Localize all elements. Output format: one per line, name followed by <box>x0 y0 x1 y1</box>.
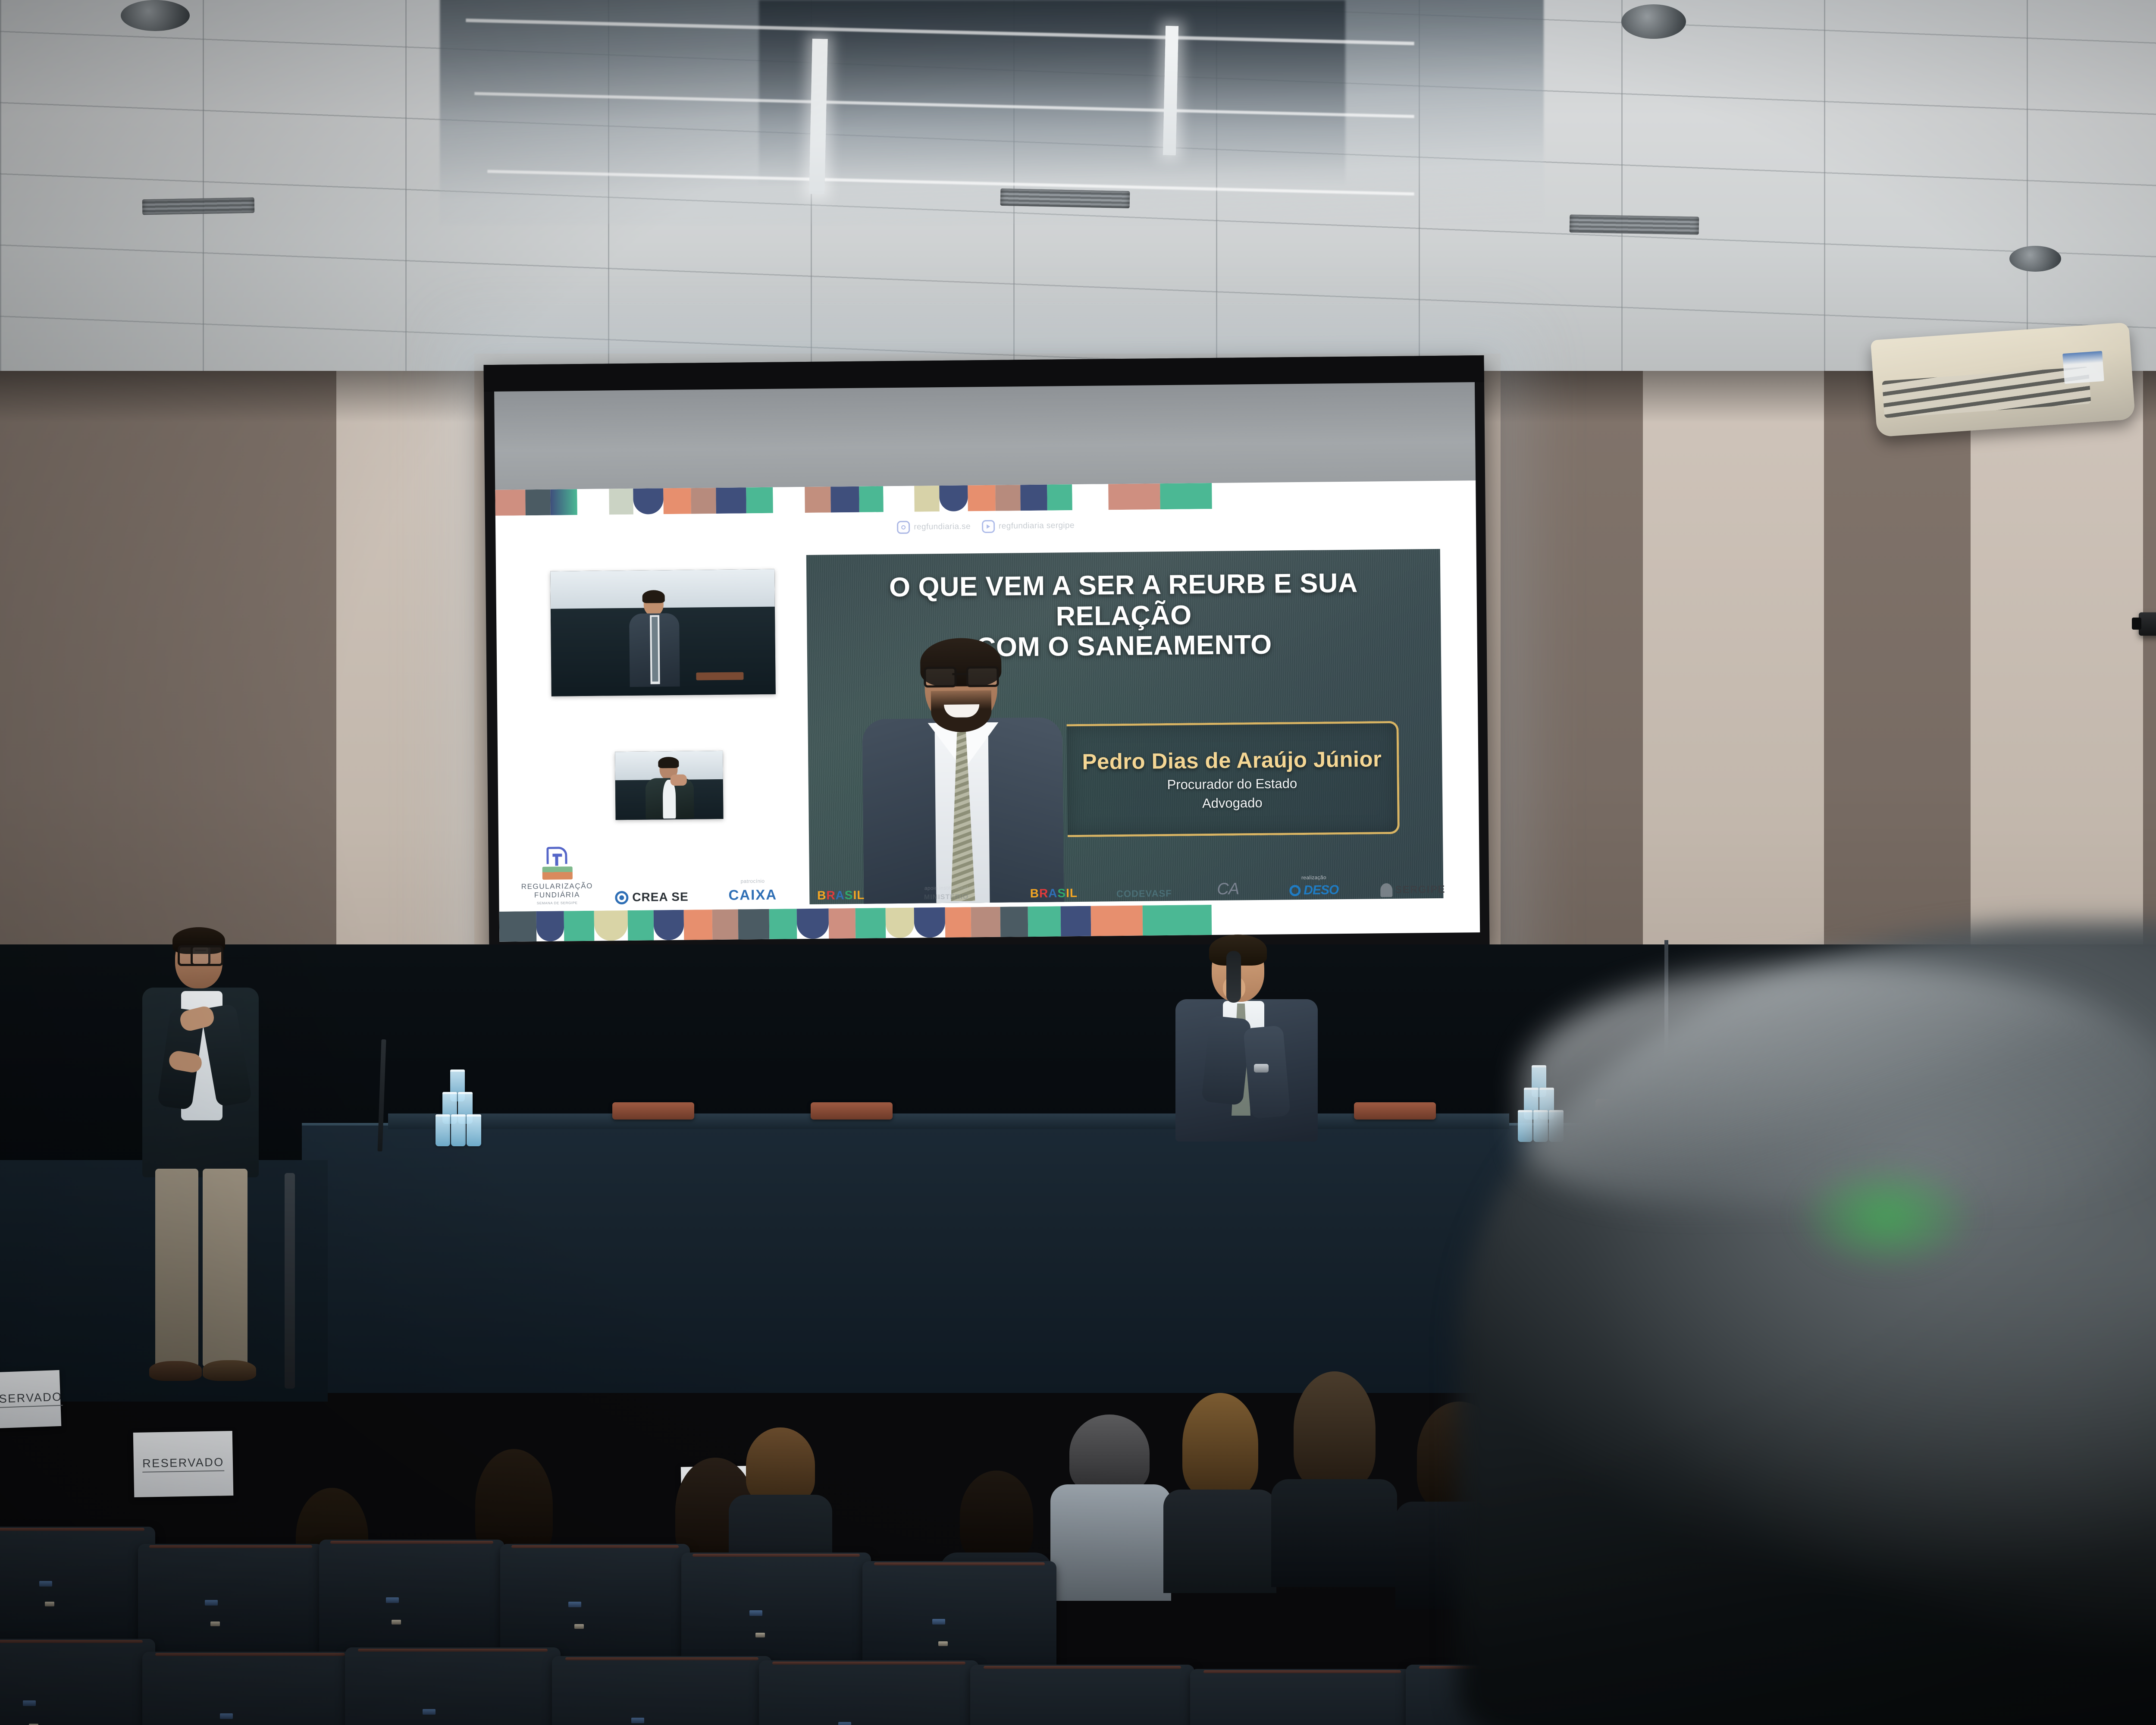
sponsor-name-crea: CREA SE <box>632 890 689 904</box>
stage-chair-back <box>612 1102 694 1120</box>
video-thumbnail-interpreter <box>615 751 724 820</box>
sponsor-name-codevasf: CODEVASF <box>1116 888 1172 900</box>
social-handle-instagram: regfundiaria.se <box>897 520 971 534</box>
auditorium-seat[interactable] <box>345 1647 561 1725</box>
crea-logo-icon <box>615 891 628 904</box>
event-logo-line2: FUNDIÁRIA <box>534 891 580 900</box>
sponsor-tag: patrocínio <box>741 878 765 884</box>
wall-camera-icon <box>2139 612 2156 636</box>
speaker-wristwatch <box>1254 1064 1269 1073</box>
ceiling-light <box>809 39 828 194</box>
speaker-name: Pedro Dias de Araújo Júnior <box>1082 746 1382 775</box>
instagram-handle-label: regfundiaria.se <box>914 522 971 532</box>
sponsor-name-ministerio: MINISTÉRIO <box>924 893 969 901</box>
instagram-icon <box>897 521 910 534</box>
stage-speaker <box>1138 925 1380 1141</box>
video-thumbnail-speaker <box>550 569 776 696</box>
reserved-sign: RESERVADO <box>0 1370 61 1429</box>
presentation-slide: regfundiaria.se regfundiaria sergipe <box>495 480 1480 942</box>
attendee <box>1263 1371 1406 1587</box>
ceiling-vent <box>1570 214 1699 235</box>
ceiling-speaker-dome <box>121 0 190 31</box>
sponsor-tag: realização <box>1301 874 1326 881</box>
youtube-icon <box>982 520 995 533</box>
sponsor-deso: realização DESO <box>1264 874 1363 898</box>
sponsor-bar: REGULARIZAÇÃO FUNDIÁRIA SEMANA DE SERGIP… <box>498 836 1479 910</box>
reserved-sign: RESERVADO <box>133 1431 234 1497</box>
auditorium-seat[interactable] <box>552 1656 772 1725</box>
auditorium-photo: SAÍDA EMERGÊNCIA <box>0 0 2156 1725</box>
auditorium-seat[interactable] <box>759 1660 979 1725</box>
sponsor-brasil-1: BRASIL <box>800 885 882 903</box>
event-logo-line1: REGULARIZAÇÃO <box>521 882 593 891</box>
ceiling-light <box>1163 26 1178 156</box>
speaker-role-2: Advogado <box>1202 795 1263 811</box>
reserved-sign-label: RESERVADO <box>0 1390 63 1409</box>
auditorium-seat[interactable] <box>142 1652 358 1725</box>
sponsor-sergipe: SERGIPE <box>1363 880 1463 897</box>
sponsor-name-deso: DESO <box>1304 883 1338 898</box>
microphone <box>1226 951 1241 1003</box>
foreground-camera-highlight <box>1522 962 2156 1203</box>
portrait-glasses-icon <box>924 666 999 685</box>
slide-title-line1: O QUE VEM A SER A REURB E SUA RELAÇÃO <box>821 567 1426 634</box>
stage-chair-back <box>811 1102 893 1120</box>
event-logo-line3: SEMANA DE SERGIPE <box>537 901 578 905</box>
sponsor-brasil-2: BRASIL <box>1011 884 1097 901</box>
sponsor-name-sergipe: SERGIPE <box>1395 884 1445 896</box>
ceiling-vent <box>142 198 255 215</box>
reserved-sign-label: RESERVADO <box>142 1455 224 1472</box>
sponsor-name-caixa: CAIXA <box>728 887 777 903</box>
auditorium-seat[interactable] <box>970 1665 1194 1725</box>
ceiling-vent <box>1000 188 1130 208</box>
screen-blank-area <box>494 382 1476 491</box>
deso-logo-icon <box>1289 885 1300 896</box>
ac-louvers <box>1882 367 2091 418</box>
event-logo: REGULARIZAÇÃO FUNDIÁRIA SEMANA DE SERGIP… <box>516 847 598 906</box>
auditorium-seat[interactable] <box>0 1639 155 1725</box>
sponsor-caixa: patrocínio CAIXA <box>705 878 800 903</box>
youtube-handle-label: regfundiaria sergipe <box>999 521 1075 531</box>
auditorium-seat[interactable] <box>1190 1669 1414 1725</box>
social-handle-youtube: regfundiaria sergipe <box>982 519 1075 533</box>
ceiling-speaker-dome <box>1621 4 1686 39</box>
auditorium-seat[interactable] <box>0 1527 155 1656</box>
speaker-nameplate: Pedro Dias de Araújo Júnior Procurador d… <box>1067 721 1400 837</box>
projection-screen: regfundiaria.se regfundiaria sergipe <box>483 355 1489 956</box>
sponsor-ministerio: apoio institucional MINISTÉRIO <box>882 884 1011 902</box>
sponsor-tag: apoio institucional <box>924 884 968 891</box>
ceiling-smoke-detector <box>2009 246 2061 272</box>
speaker-role-1: Procurador do Estado <box>1167 776 1297 793</box>
sponsor-name-ca: CA <box>1217 880 1239 898</box>
air-conditioner-unit <box>1871 322 2135 437</box>
event-logo-mark-icon <box>539 847 574 880</box>
sergipe-logo-icon <box>1380 883 1392 897</box>
sponsor-crea: CREA SE <box>598 887 706 904</box>
ac-brand-badge <box>2062 351 2104 384</box>
foreground-camera-green-led <box>1794 1160 1979 1272</box>
sponsor-codevasf: CODEVASF <box>1097 885 1191 900</box>
sponsor-ca: CA <box>1191 877 1265 899</box>
interpreter-glasses-icon <box>178 945 223 957</box>
